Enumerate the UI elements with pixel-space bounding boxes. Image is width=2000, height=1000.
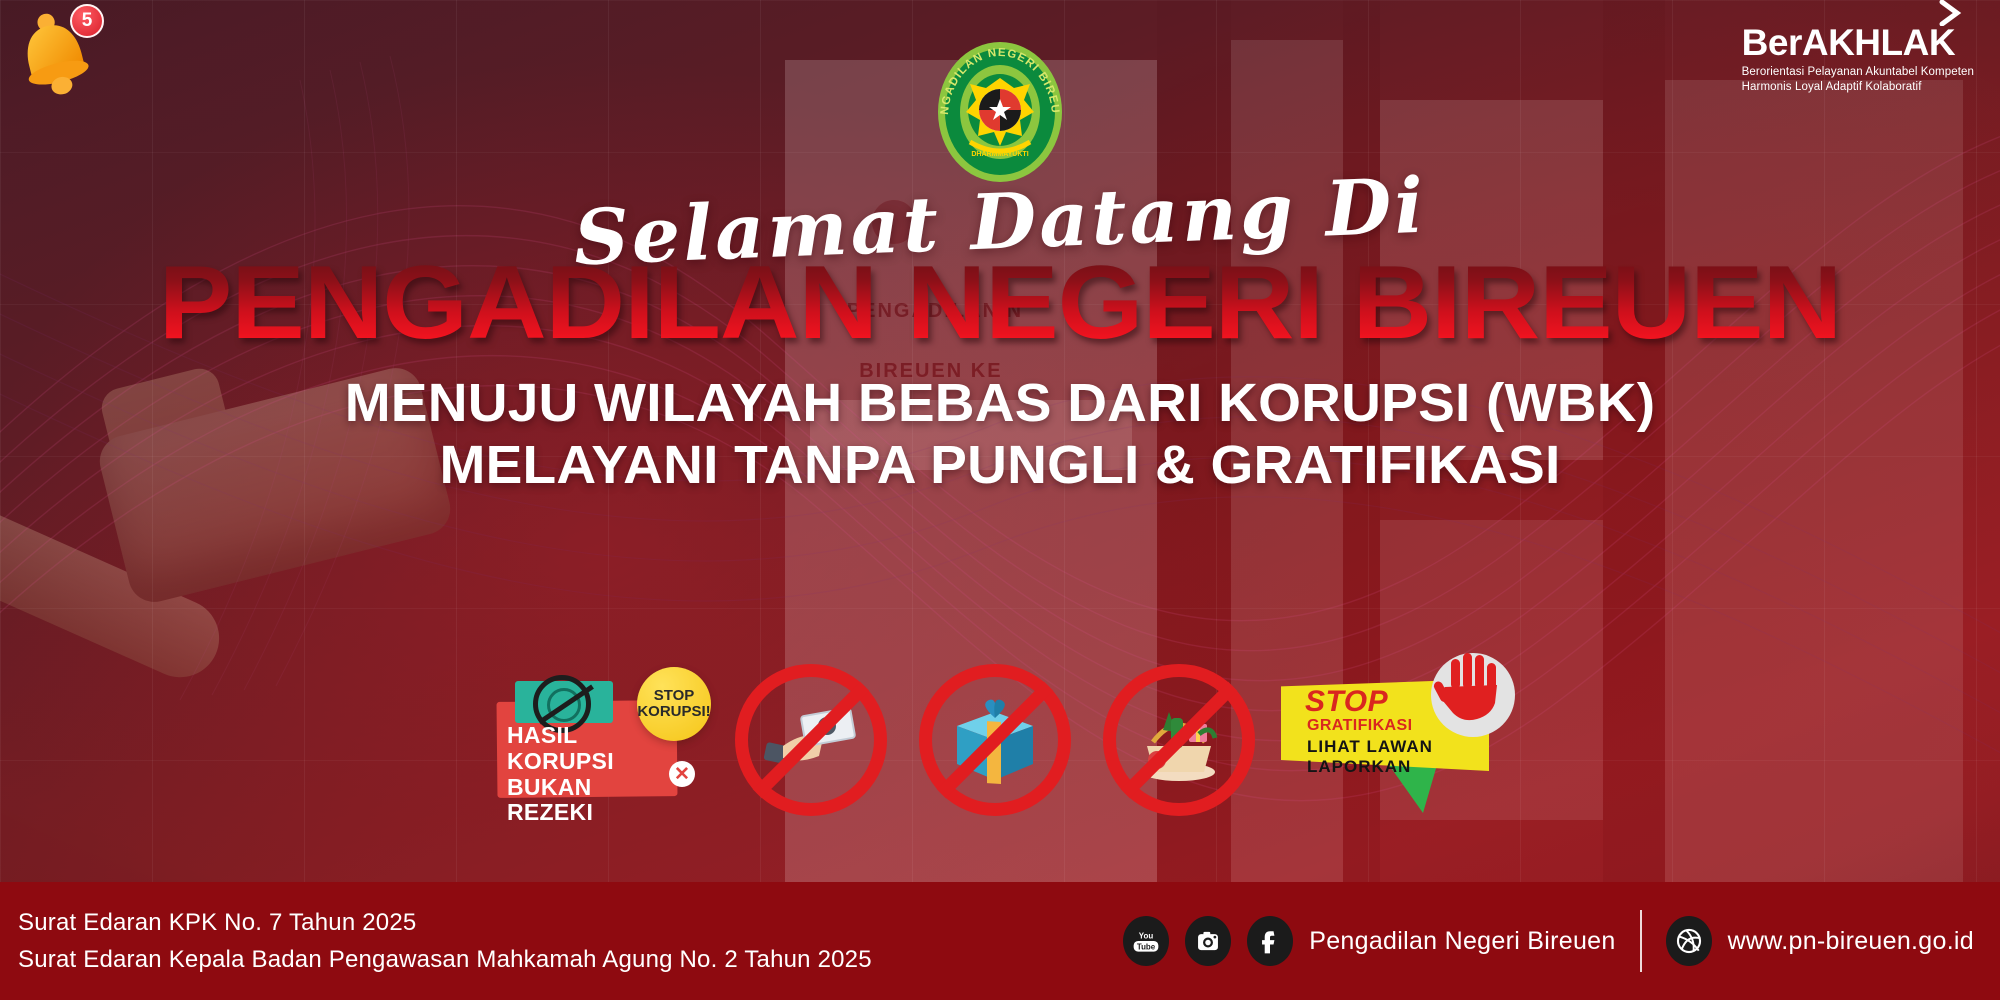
stop-gratifikasi-sign: STOP GRATIFIKASI LIHAT LAWAN LAPORKAN: [1281, 665, 1511, 815]
no-gift-box-icon: [913, 658, 1077, 822]
gratifikasi-stop-text: STOP: [1305, 687, 1388, 717]
welcome-banner: PENGADILAN N BIREUEN KE: [0, 0, 2000, 1000]
social-handle-label: Pengadilan Negeri Bireuen: [1309, 927, 1615, 956]
footer-line-2: Surat Edaran Kepala Badan Pengawasan Mah…: [18, 941, 872, 978]
berakhlak-subtitle-line-1: Berorientasi Pelayanan Akuntabel Kompete…: [1742, 65, 1974, 80]
hasil-korupsi-poster: HASIL KORUPSI BUKAN REZEKI ✕ STOP KORUPS…: [489, 675, 709, 805]
svg-text:Tube: Tube: [1137, 942, 1156, 951]
anti-corruption-icon-row: HASIL KORUPSI BUKAN REZEKI ✕ STOP KORUPS…: [0, 640, 2000, 840]
red-stop-hand-icon: [1431, 653, 1515, 737]
poster-x-mark: ✕: [669, 761, 695, 787]
notification-badge: 5: [70, 4, 104, 38]
dribbble-globe-icon[interactable]: [1666, 916, 1712, 966]
website-url-label[interactable]: www.pn-bireuen.go.id: [1728, 927, 1974, 956]
berakhlak-title-text: BerAKHLAK: [1742, 22, 1955, 63]
page-title: PENGADILAN NEGERI BIREUEN: [0, 254, 2000, 354]
stop-korupsi-badge-line-2: KORUPSI!: [637, 704, 710, 720]
footer-contact: You Tube Pengadilan Negeri: [1123, 910, 2000, 972]
footer-bar: Surat Edaran KPK No. 7 Tahun 2025 Surat …: [0, 882, 2000, 1000]
gratifikasi-subject-text: GRATIFIKASI: [1307, 717, 1412, 735]
youtube-icon[interactable]: You Tube: [1123, 916, 1169, 966]
stop-korupsi-badge-line-1: STOP: [654, 688, 695, 704]
court-emblem-icon: DHARMMAYUKTI PENGADILAN NEGERI BIREUEN: [930, 38, 1070, 186]
stop-korupsi-badge: STOP KORUPSI!: [637, 667, 711, 741]
subtitle-line-2: MELAYANI TANPA PUNGLI & GRATIFIKASI: [0, 434, 2000, 497]
no-bribe-money-icon: $: [729, 658, 893, 822]
instagram-icon[interactable]: [1185, 916, 1231, 966]
footer-line-1: Surat Edaran KPK No. 7 Tahun 2025: [18, 904, 872, 941]
footer-divider: [1640, 910, 1642, 972]
chevron-right-icon: [1937, 0, 1963, 26]
footer-regulations: Surat Edaran KPK No. 7 Tahun 2025 Surat …: [0, 904, 872, 978]
subtitle-line-1: MENUJU WILAYAH BEBAS DARI KORUPSI (WBK): [0, 372, 2000, 435]
svg-text:You: You: [1139, 931, 1154, 940]
bell-icon[interactable]: 5: [6, 6, 102, 102]
berakhlak-subtitle-line-2: Harmonis Loyal Adaptif Kolaboratif: [1742, 80, 1974, 95]
court-motto: DHARMMAYUKTI: [971, 151, 1028, 158]
headline-block: Selamat Datang Di PENGADILAN NEGERI BIRE…: [0, 184, 2000, 497]
gratifikasi-cta-text: LIHAT LAWAN LAPORKAN: [1307, 737, 1511, 777]
poster-line-2: BUKAN REZEKI: [507, 775, 682, 827]
berakhlak-title: BerAKHLAK: [1742, 24, 1955, 61]
no-hamper-parcel-icon: [1097, 658, 1261, 822]
berakhlak-logo: BerAKHLAK Berorientasi Pelayanan Akuntab…: [1742, 24, 1974, 95]
facebook-icon[interactable]: [1247, 916, 1293, 966]
